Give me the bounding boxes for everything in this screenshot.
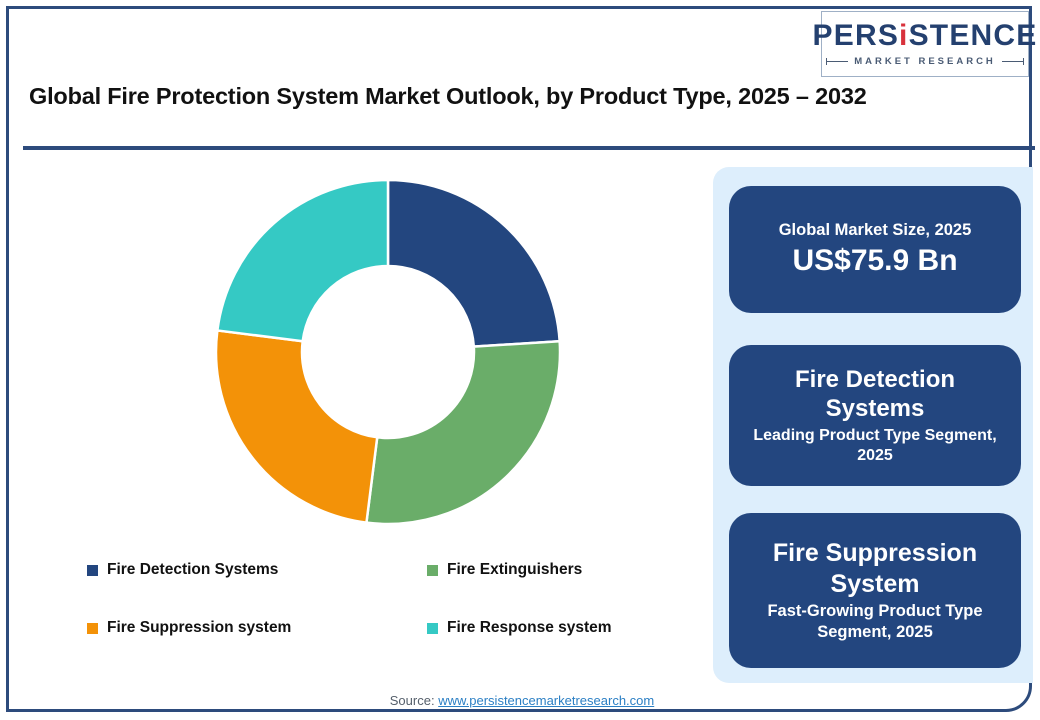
card-global-market-size-label: Global Market Size, 2025 <box>779 220 972 241</box>
logo-rule-left-icon <box>826 61 848 62</box>
persistence-logo: PERSiSTENCE MARKET RESEARCH <box>821 11 1029 77</box>
infographic-frame: PERSiSTENCE MARKET RESEARCH Global Fire … <box>6 6 1032 712</box>
donut-chart <box>23 159 703 559</box>
donut-chart-svg <box>208 172 568 532</box>
highlight-panel: Global Market Size, 2025 US$75.9 Bn Fire… <box>713 167 1033 683</box>
donut-slice-fire-suppression-system <box>216 330 377 522</box>
logo-name-prefix: PERS <box>813 19 900 52</box>
source-line: Source: www.persistencemarketresearch.co… <box>9 693 1035 708</box>
logo-name-suffix: STENCE <box>909 19 1038 52</box>
donut-slice-group <box>216 180 560 524</box>
card-leading-segment-title: Fire Detection Systems <box>743 365 1007 424</box>
donut-slice-fire-detection-systems <box>388 180 560 347</box>
card-global-market-size: Global Market Size, 2025 US$75.9 Bn <box>729 186 1021 313</box>
logo-name-i: i <box>899 19 909 52</box>
legend-swatch-fire-response-system <box>427 623 438 634</box>
legend-label-fire-detection-systems: Fire Detection Systems <box>107 561 278 579</box>
card-fastest-growing-segment-title: Fire Suppression System <box>743 538 1007 599</box>
logo-tagline: MARKET RESEARCH <box>854 56 996 67</box>
logo-tagline-row: MARKET RESEARCH <box>826 56 1024 67</box>
card-fastest-growing-segment: Fire Suppression System Fast-Growing Pro… <box>729 513 1021 668</box>
card-fastest-growing-segment-caption: Fast-Growing Product Type Segment, 2025 <box>743 601 1007 643</box>
legend-swatch-fire-detection-systems <box>87 565 98 576</box>
chart-legend: Fire Detection Systems Fire Extinguisher… <box>87 561 687 637</box>
title-divider <box>23 146 1035 150</box>
donut-slice-fire-extinguishers <box>366 341 560 524</box>
source-label: Source: <box>390 693 435 708</box>
legend-item-fire-detection-systems: Fire Detection Systems <box>87 561 427 579</box>
legend-item-fire-response-system: Fire Response system <box>427 619 687 637</box>
logo-rule-right-icon <box>1002 61 1024 62</box>
card-global-market-size-value: US$75.9 Bn <box>792 243 957 280</box>
legend-label-fire-extinguishers: Fire Extinguishers <box>447 561 582 579</box>
legend-label-fire-suppression-system: Fire Suppression system <box>107 619 291 637</box>
legend-label-fire-response-system: Fire Response system <box>447 619 612 637</box>
card-leading-segment-caption: Leading Product Type Segment, 2025 <box>743 426 1007 466</box>
card-leading-segment: Fire Detection Systems Leading Product T… <box>729 345 1021 486</box>
logo-wordmark: PERSiSTENCE <box>813 21 1038 51</box>
legend-item-fire-suppression-system: Fire Suppression system <box>87 619 427 637</box>
legend-swatch-fire-extinguishers <box>427 565 438 576</box>
source-link[interactable]: www.persistencemarketresearch.com <box>438 693 654 708</box>
donut-slice-fire-response-system <box>217 180 388 341</box>
legend-item-fire-extinguishers: Fire Extinguishers <box>427 561 687 579</box>
page-title: Global Fire Protection System Market Out… <box>29 81 889 112</box>
legend-swatch-fire-suppression-system <box>87 623 98 634</box>
